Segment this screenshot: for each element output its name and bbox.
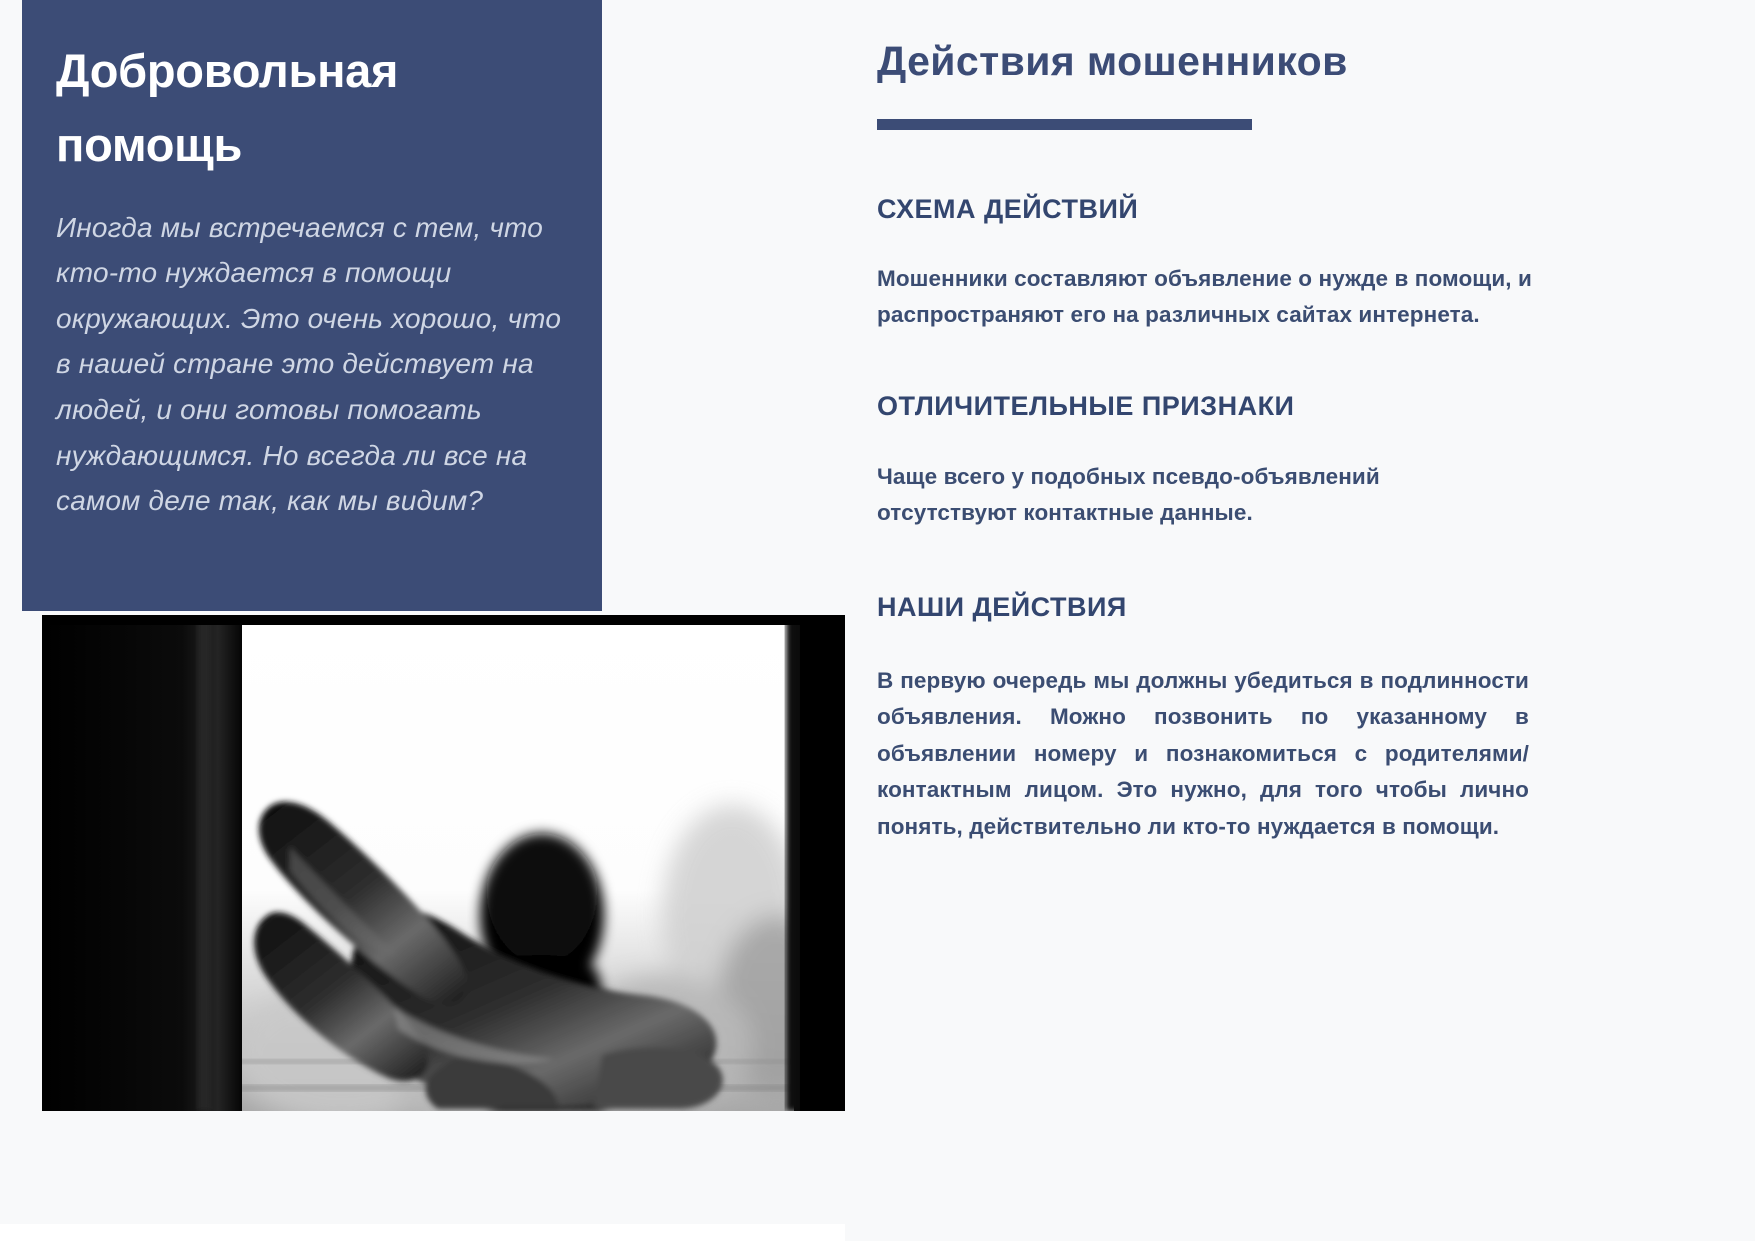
section-scheme: СХЕМА ДЕЙСТВИЙ Мошенники составляют объя… (877, 194, 1577, 334)
section-signs: ОТЛИЧИТЕЛЬНЫЕ ПРИЗНАКИ Чаще всего у подо… (877, 391, 1577, 532)
hand-reaching-photo (42, 615, 845, 1111)
section-actions: НАШИ ДЕЙСТВИЯ В первую очередь мы должны… (877, 592, 1577, 845)
panel-title: Добровольная помощь (56, 0, 568, 183)
panel-body-text: Иногда мы встречаемся с тем, что кто-то … (56, 183, 568, 524)
section-heading-signs: ОТЛИЧИТЕЛЬНЫЕ ПРИЗНАКИ (877, 391, 1577, 422)
title-underline-rule (877, 119, 1252, 130)
intro-panel: Добровольная помощь Иногда мы встречаемс… (22, 0, 602, 611)
section-heading-actions: НАШИ ДЕЙСТВИЯ (877, 592, 1577, 623)
photo-illustration (42, 615, 845, 1111)
section-text-signs: Чаще всего у подобных псевдо-объявлений … (877, 459, 1517, 532)
section-text-scheme: Мошенники составляют объявление о нужде … (877, 261, 1532, 334)
section-heading-scheme: СХЕМА ДЕЙСТВИЙ (877, 194, 1577, 225)
section-text-actions: В первую очередь мы должны убедиться в п… (877, 663, 1529, 845)
slide-root: Добровольная помощь Иногда мы встречаемс… (0, 0, 1755, 1241)
right-column: Действия мошенников СХЕМА ДЕЙСТВИЙ Мошен… (877, 0, 1577, 845)
right-column-title: Действия мошенников (877, 0, 1577, 85)
